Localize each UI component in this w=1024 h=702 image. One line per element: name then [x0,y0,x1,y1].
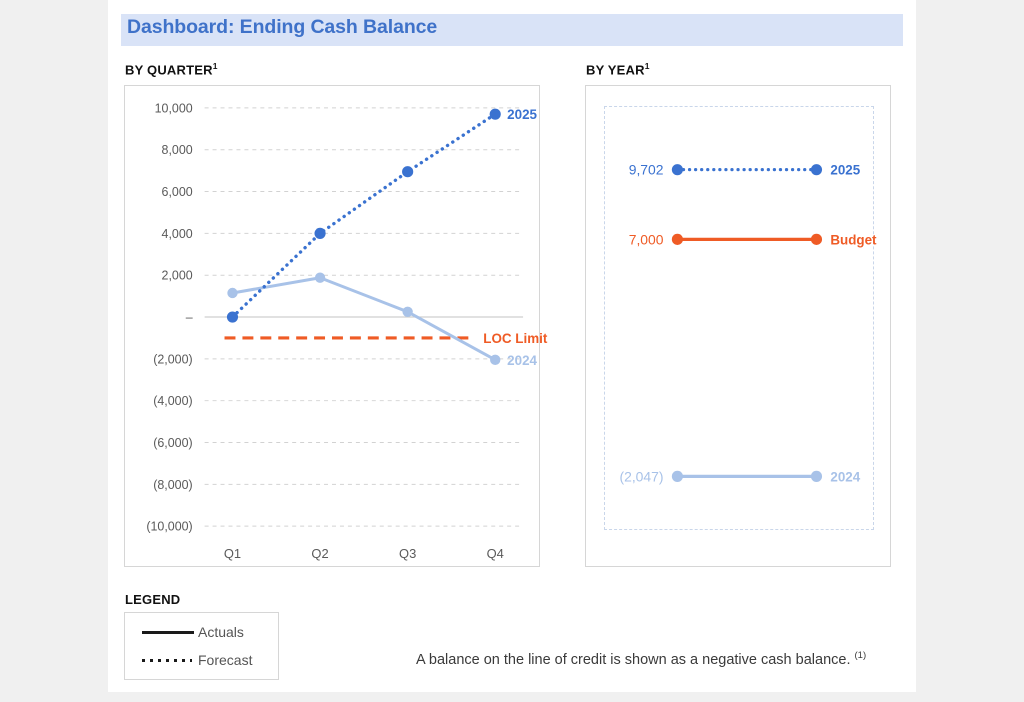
svg-text:(4,000): (4,000) [153,394,192,408]
by-year-chart-panel: 9,7027,000(2,047) 2025Budget2024 [585,85,891,567]
svg-text:8,000: 8,000 [162,143,193,157]
by-year-heading: BY YEAR1 [586,61,650,77]
page-title: Dashboard: Ending Cash Balance [127,16,437,39]
svg-text:6,000: 6,000 [162,185,193,199]
quarter-series-labels: LOC Limit20242025 [483,107,548,368]
legend-label-forecast: Forecast [198,652,252,668]
svg-text:(6,000): (6,000) [153,436,192,450]
svg-text:7,000: 7,000 [629,231,664,247]
svg-text:9,702: 9,702 [629,162,664,178]
svg-text:(8,000): (8,000) [153,478,192,492]
solid-line-icon [136,626,194,638]
svg-text:2025: 2025 [830,163,860,178]
legend-box: Actuals Forecast [124,612,279,680]
quarter-series-lines [232,114,495,360]
by-quarter-heading-text: BY QUARTER [125,62,213,77]
dashboard-page: Dashboard: Ending Cash Balance BY QUARTE… [0,0,1024,702]
by-quarter-footnote-marker: 1 [213,61,218,71]
footnote: A balance on the line of credit is shown… [416,650,866,668]
by-year-chart-svg: 9,7027,000(2,047) 2025Budget2024 [586,86,890,566]
quarter-gridlines [205,108,523,526]
svg-text:Q1: Q1 [224,546,241,561]
svg-text:Q3: Q3 [399,546,416,561]
by-year-footnote-marker: 1 [645,61,650,71]
quarter-x-axis-ticks: Q1Q2Q3Q4 [224,546,504,561]
svg-text:2,000: 2,000 [162,269,193,283]
by-quarter-chart-svg: 10,0008,0006,0004,0002,000–(2,000)(4,000… [125,86,539,566]
year-series-lines [677,170,816,477]
legend-item-actuals: Actuals [136,622,244,642]
svg-text:LOC Limit: LOC Limit [483,331,548,346]
svg-text:(10,000): (10,000) [146,520,192,534]
svg-text:Q4: Q4 [487,546,504,561]
svg-text:2024: 2024 [830,469,860,484]
footnote-text: A balance on the line of credit is shown… [416,652,850,668]
quarter-y-axis-ticks: 10,0008,0006,0004,0002,000–(2,000)(4,000… [146,101,192,533]
legend-heading: LEGEND [125,592,180,607]
dotted-line-icon [136,654,194,666]
by-quarter-chart-panel: 10,0008,0006,0004,0002,000–(2,000)(4,000… [124,85,540,567]
footnote-marker: (1) [855,650,867,661]
year-series-markers [672,164,822,482]
quarter-series-markers [227,109,501,365]
by-quarter-heading: BY QUARTER1 [125,61,218,77]
svg-text:Q2: Q2 [311,546,328,561]
year-series-values: 9,7027,000(2,047) [619,162,663,485]
legend-item-forecast: Forecast [136,650,252,670]
svg-text:2025: 2025 [507,107,537,122]
svg-text:(2,047): (2,047) [619,468,663,484]
svg-text:4,000: 4,000 [162,227,193,241]
svg-text:–: – [186,311,193,325]
svg-text:2024: 2024 [507,353,537,368]
dashboard-card: Dashboard: Ending Cash Balance BY QUARTE… [108,0,916,692]
svg-text:Budget: Budget [830,232,877,247]
legend-label-actuals: Actuals [198,624,244,640]
year-series-labels: 2025Budget2024 [830,163,877,485]
svg-text:(2,000): (2,000) [153,352,192,366]
by-year-heading-text: BY YEAR [586,62,645,77]
svg-text:10,000: 10,000 [155,101,193,115]
